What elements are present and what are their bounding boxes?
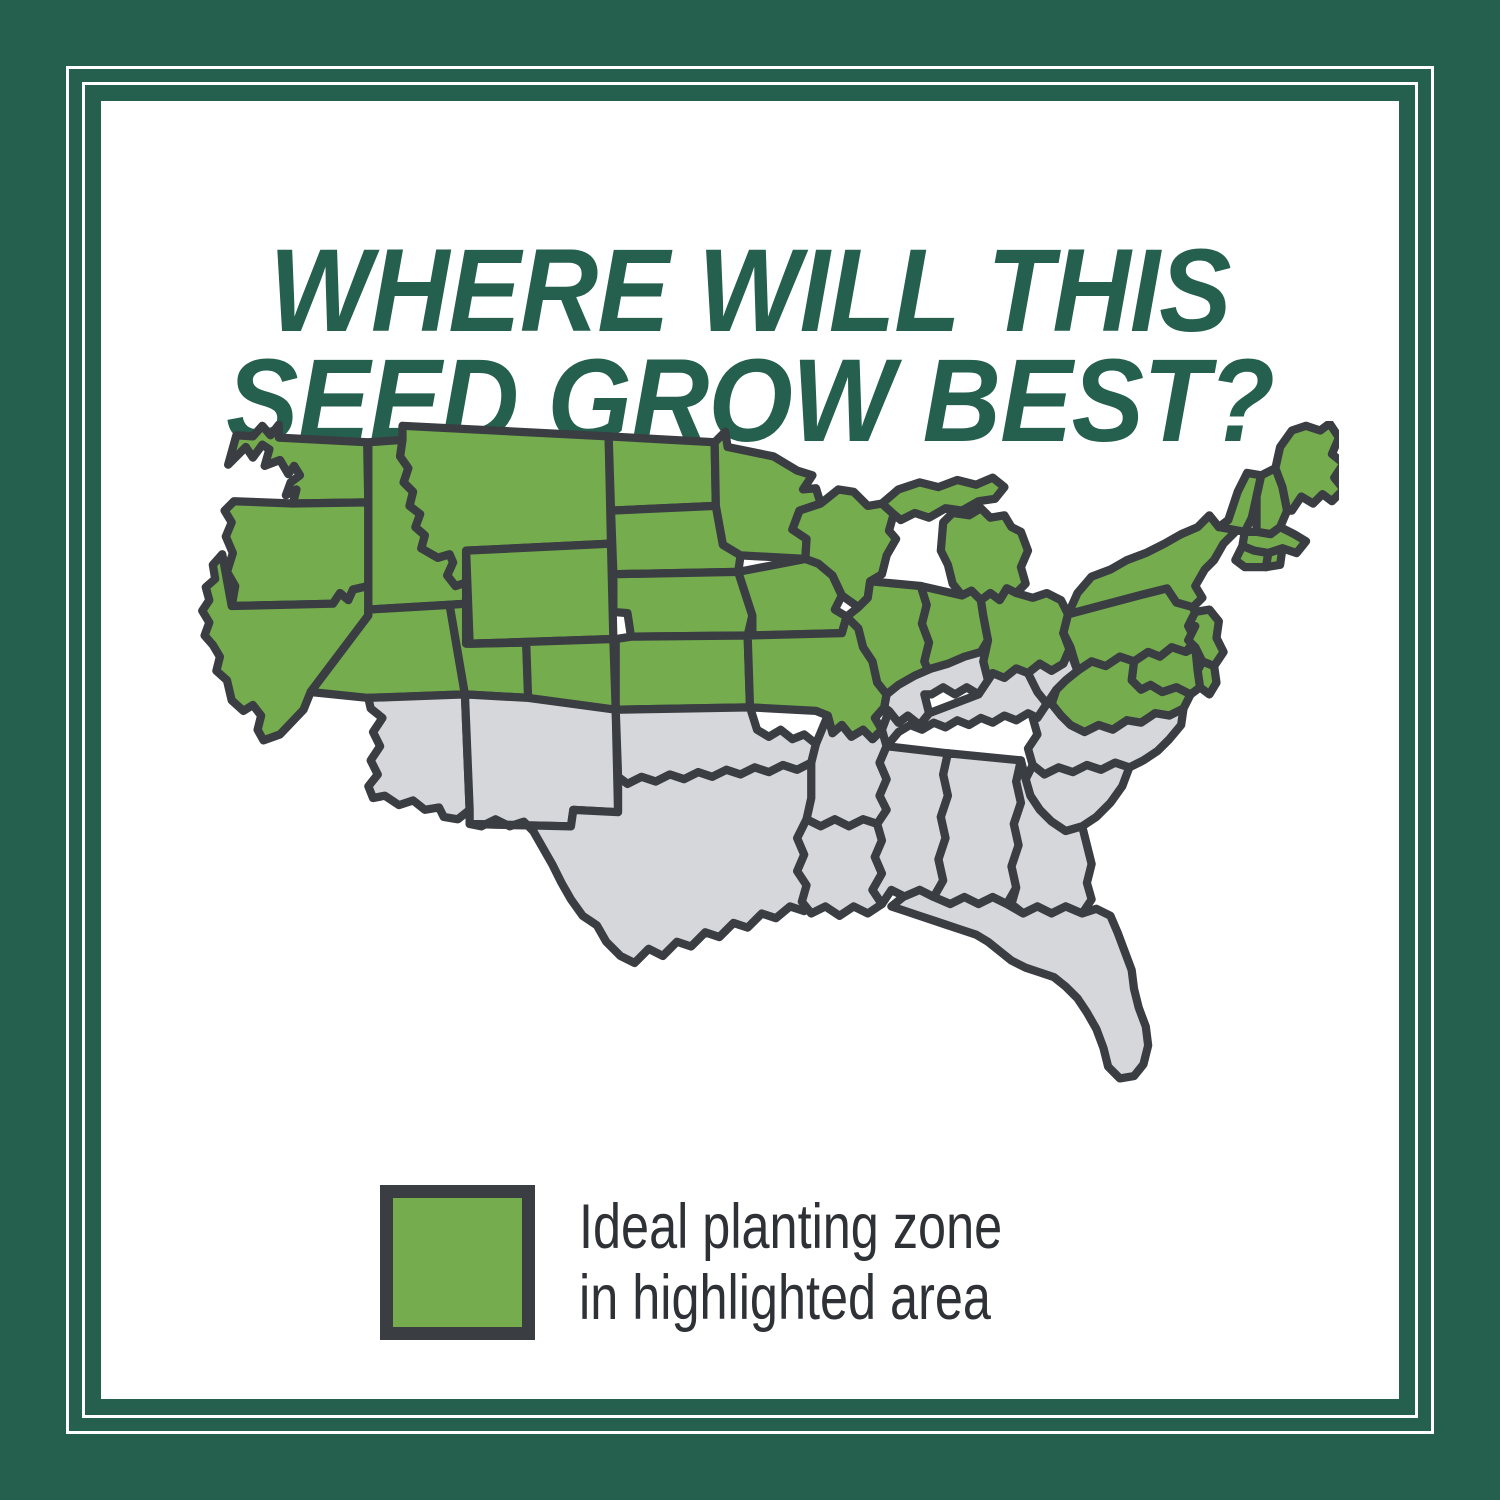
state-LA[interactable] [797, 819, 882, 916]
state-WY[interactable] [466, 544, 613, 644]
state-NM[interactable] [465, 694, 618, 826]
state-MI[interactable] [941, 508, 1028, 600]
legend-color-swatch [380, 1185, 535, 1340]
legend-label: Ideal planting zone in highlighted area [579, 1192, 1002, 1334]
state-AL[interactable] [934, 753, 1021, 904]
legend: Ideal planting zone in highlighted area [380, 1185, 1108, 1340]
state-FL[interactable] [891, 890, 1148, 1078]
state-OR[interactable] [225, 501, 369, 606]
state-ND[interactable] [609, 436, 716, 510]
poster-root: WHERE WILL THIS SEED GROW BEST? [0, 0, 1500, 1500]
content-canvas: WHERE WILL THIS SEED GROW BEST? [101, 101, 1399, 1399]
state-NE[interactable] [613, 572, 752, 637]
state-AZ[interactable] [368, 694, 469, 819]
us-map-svg [161, 421, 1339, 1181]
state-MS[interactable] [873, 746, 948, 904]
state-RI[interactable] [1266, 548, 1282, 567]
state-WA[interactable] [228, 425, 368, 504]
state-KS[interactable] [616, 635, 750, 709]
us-map [161, 421, 1339, 1181]
state-ME[interactable] [1275, 423, 1339, 510]
